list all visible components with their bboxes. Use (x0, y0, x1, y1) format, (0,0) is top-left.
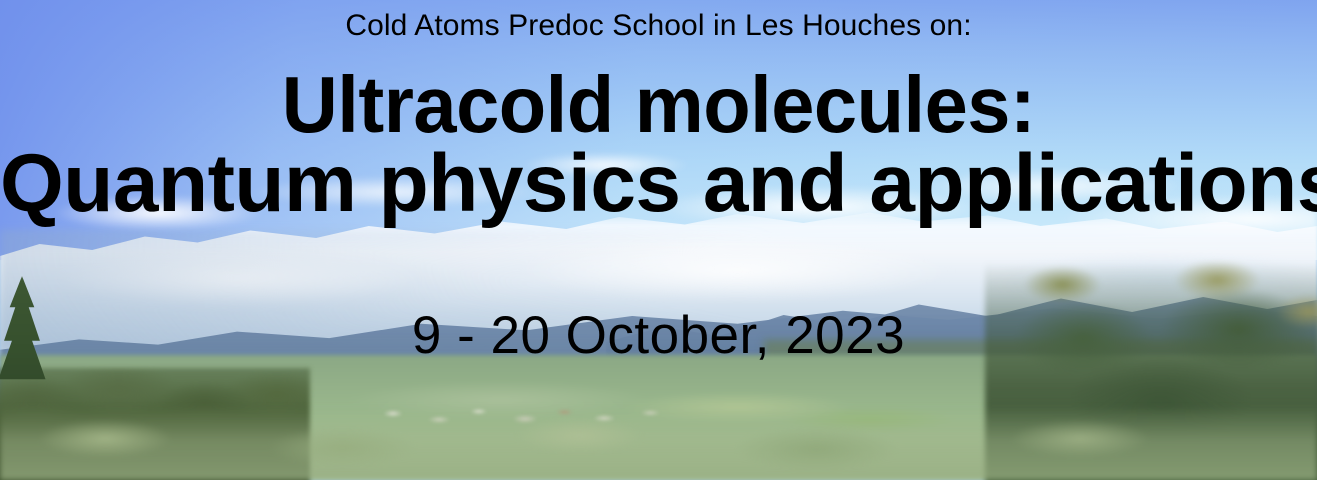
conference-banner: Cold Atoms Predoc School in Les Houches … (0, 0, 1317, 480)
banner-subtitle: Cold Atoms Predoc School in Les Houches … (0, 8, 1317, 44)
banner-title-line-2: Quantum physics and applications (0, 144, 1317, 224)
banner-dates: 9 - 20 October, 2023 (0, 305, 1317, 366)
banner-title-line-1: Ultracold molecules: (20, 66, 1297, 144)
banner-title: Ultracold molecules: Quantum physics and… (0, 66, 1317, 225)
banner-text-layer: Cold Atoms Predoc School in Les Houches … (0, 0, 1317, 480)
